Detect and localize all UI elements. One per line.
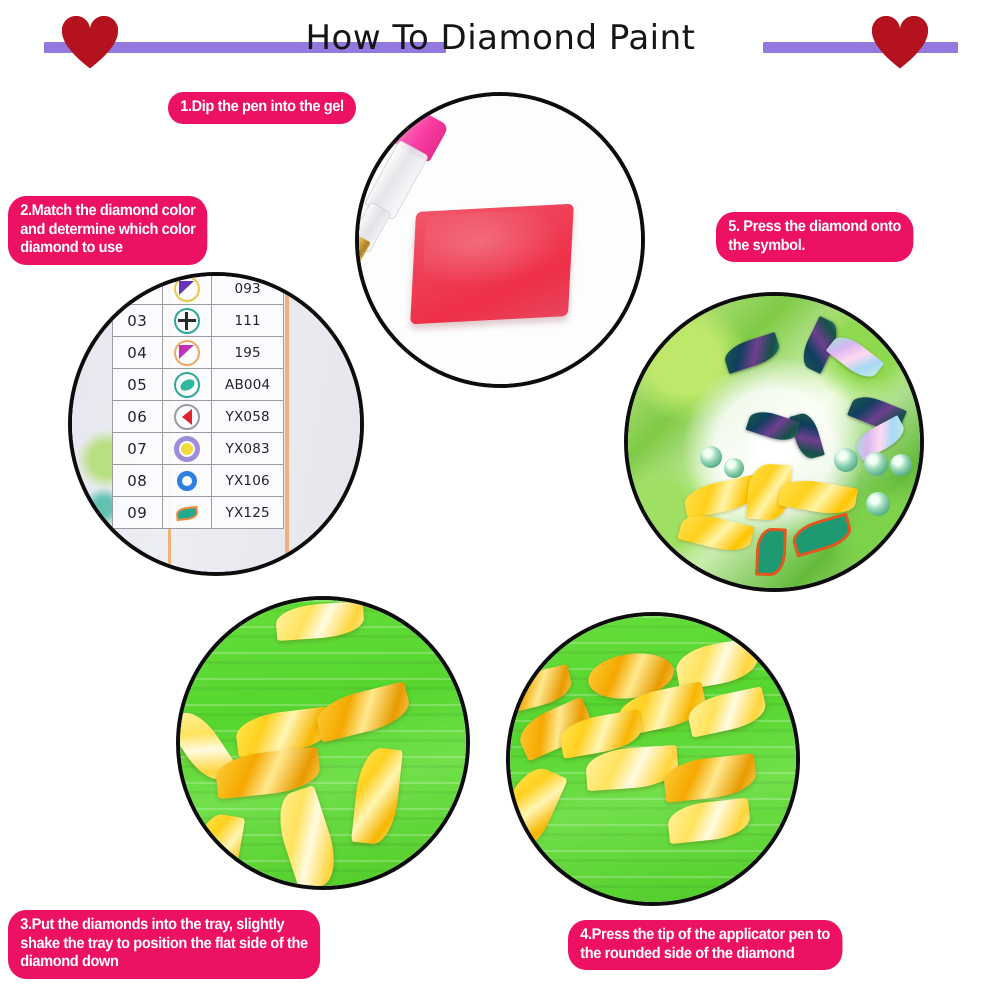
gem xyxy=(866,492,890,516)
gem xyxy=(721,332,782,374)
gem xyxy=(746,407,801,445)
table-row: 02 093 xyxy=(113,273,284,305)
step-5-line-2: the symbol. xyxy=(728,237,901,256)
gem xyxy=(834,448,858,472)
page-title: How To Diamond Paint xyxy=(0,18,1001,58)
table-row: 07 YX083 xyxy=(113,433,284,465)
color-chart-body: 02 093 03 111 04 195 05 xyxy=(113,273,284,529)
table-row: 06 YX058 xyxy=(113,401,284,433)
header-band: How To Diamond Paint xyxy=(0,0,1001,86)
step-4-line-1: 4.Press the tip of the applicator pen to xyxy=(580,926,830,945)
chart-row-0-code: 093 xyxy=(212,273,284,305)
applicator-pen xyxy=(624,292,700,420)
step-4-line-2: the rounded side of the diamond xyxy=(580,945,830,964)
infographic-page: How To Diamond Paint 1.Dip the pen into … xyxy=(0,0,1001,1001)
photo-pen-picking-up-diamond xyxy=(506,612,800,906)
magenta-triangle-icon xyxy=(162,337,212,369)
color-chart-table: 02 093 03 111 04 195 05 xyxy=(112,272,284,529)
pen-tip xyxy=(355,235,371,272)
chart-row-2-no: 04 xyxy=(113,337,163,369)
chart-row-5-code: YX083 xyxy=(212,433,284,465)
gem xyxy=(826,330,885,384)
step-3-line-2: shake the tray to position the flat side… xyxy=(20,935,308,954)
table-row: 09 YX125 xyxy=(113,497,284,529)
chart-row-4-code: YX058 xyxy=(212,401,284,433)
step-3-line-3: diamond down xyxy=(20,953,308,972)
gem-yellow xyxy=(677,510,754,557)
printed-symbol xyxy=(755,527,787,576)
step-2-label: 2.Match the diamond color and determine … xyxy=(8,196,208,265)
step-5-line-1: 5. Press the diamond onto xyxy=(728,218,901,237)
gem xyxy=(724,458,744,478)
gem xyxy=(864,452,888,476)
chart-row-7-no: 09 xyxy=(113,497,163,529)
chart-row-1-no: 03 xyxy=(113,305,163,337)
gel-pad xyxy=(410,204,574,325)
table-row: 04 195 xyxy=(113,337,284,369)
step-1-line-1: 1.Dip the pen into the gel xyxy=(180,98,343,117)
red-chevron-icon xyxy=(162,401,212,433)
blue-donut-icon xyxy=(162,465,212,497)
chart-row-0-no: 02 xyxy=(113,273,163,305)
chart-row-6-code: YX106 xyxy=(212,465,284,497)
step-5-label: 5. Press the diamond onto the symbol. xyxy=(716,212,913,262)
photo-pen-dipping-into-gel xyxy=(355,92,645,388)
step-2-line-1: 2.Match the diamond color xyxy=(20,202,195,221)
step-3-label: 3.Put the diamonds into the tray, slight… xyxy=(8,910,320,979)
teal-leaf-icon xyxy=(162,497,212,529)
chart-row-6-no: 08 xyxy=(113,465,163,497)
step-2-line-2: and determine which color xyxy=(20,221,195,240)
printed-symbol xyxy=(789,512,855,557)
table-row: 05 AB004 xyxy=(113,369,284,401)
purple-triangle-icon xyxy=(162,273,212,305)
step-4-label: 4.Press the tip of the applicator pen to… xyxy=(568,920,842,970)
chart-row-7-code: YX125 xyxy=(212,497,284,529)
chart-row-2-code: 195 xyxy=(212,337,284,369)
step-2-line-3: diamond to use xyxy=(20,239,195,258)
yellow-dot-icon xyxy=(162,433,212,465)
table-row: 03 111 xyxy=(113,305,284,337)
gem xyxy=(890,454,912,476)
chart-row-1-code: 111 xyxy=(212,305,284,337)
photo-diamond-color-chart: 02 093 03 111 04 195 05 xyxy=(68,272,364,576)
table-row: 08 YX106 xyxy=(113,465,284,497)
chart-row-5-no: 07 xyxy=(113,433,163,465)
guide-line xyxy=(285,276,289,572)
photo-placing-diamond-on-canvas xyxy=(624,292,924,592)
gem xyxy=(700,446,722,468)
photo-diamonds-in-tray xyxy=(176,596,470,890)
chart-row-4-no: 06 xyxy=(113,401,163,433)
plus-icon xyxy=(162,305,212,337)
step-1-label: 1.Dip the pen into the gel xyxy=(168,92,356,124)
teal-ellipse-icon xyxy=(162,369,212,401)
chart-row-3-code: AB004 xyxy=(212,369,284,401)
step-3-line-1: 3.Put the diamonds into the tray, slight… xyxy=(20,916,308,935)
chart-row-3-no: 05 xyxy=(113,369,163,401)
